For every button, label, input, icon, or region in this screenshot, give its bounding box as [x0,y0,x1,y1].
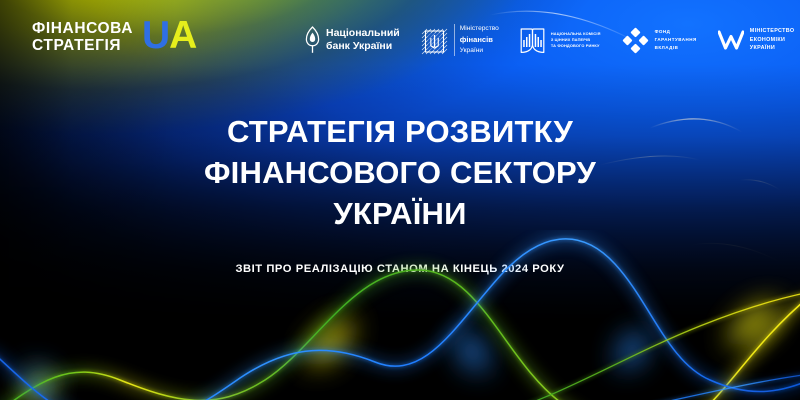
page-title-line-3: УКРАЇНИ [0,194,800,235]
header: ФІНАНСОВА СТРАТЕГІЯ U A Націона [0,0,800,78]
trident-emblem-icon [421,26,448,55]
partner-logo-deposit-guarantee-fund[interactable]: ФОНД ГАРАНТУВАННЯ ВКЛАДІВ [622,24,697,56]
wave-path-blue-tail [560,374,800,400]
dgf-diamond-icon [622,27,649,54]
partner-label: Національний банк України [326,27,400,53]
partner-logo-strip: Національний банк України [305,24,794,56]
partner-label: ФОНД ГАРАНТУВАННЯ ВКЛАДІВ [655,28,697,52]
brand-logo[interactable]: ФІНАНСОВА СТРАТЕГІЯ U A [32,21,196,54]
partner-label: НАЦІОНАЛЬНА КОМІСІЯ З ЦІННИХ ПАПЕРІВ ТА … [551,31,601,50]
page-title-line-2: ФІНАНСОВОГО СЕКТОРУ [0,153,800,194]
page-title-line-1: СТРАТЕГІЯ РОЗВИТКУ [0,112,800,153]
brand-ua-mark: U A [142,20,196,52]
brand-line-1: ФІНАНСОВА [32,21,133,38]
wave-path-blue [0,239,800,400]
brand-wordmark: ФІНАНСОВА СТРАТЕГІЯ [32,21,133,54]
mineconomy-checkmark-icon [718,29,744,51]
partner-label: Міністерство фінансів України [454,24,499,55]
partner-logo-nssmc[interactable]: НАЦІОНАЛЬНА КОМІСІЯ З ЦІННИХ ПАПЕРІВ ТА … [520,24,601,56]
partner-label-line-1: Національний [326,27,400,40]
partner-label-line-3: УКРАЇНИ [750,44,795,53]
partner-label-line-1: Міністерство [460,24,499,34]
decorative-wave-graphic [0,230,800,400]
partner-label-line-1: МІНІСТЕРСТВО [750,27,795,36]
nssmc-book-chart-icon [520,27,545,54]
partner-label-line-1: НАЦІОНАЛЬНА КОМІСІЯ [551,31,601,37]
brand-ua-letter-u: U [142,20,169,52]
partner-label-line-2: ЕКОНОМІКИ [750,36,795,45]
partner-label-line-3: України [460,46,499,56]
brand-ua-letter-a: A [169,20,196,52]
partner-label-line-2: фінансів [460,34,499,45]
partner-logo-national-bank-of-ukraine[interactable]: Національний банк України [305,24,400,56]
partner-label-line-2: ГАРАНТУВАННЯ [655,36,697,44]
wave-path-blue-glow [0,239,800,400]
partner-label-line-3: ВКЛАДІВ [655,44,697,52]
partner-label-line-1: ФОНД [655,28,697,36]
title-slide: ФІНАНСОВА СТРАТЕГІЯ U A Націона [0,0,800,400]
partner-label: МІНІСТЕРСТВО ЕКОНОМІКИ УКРАЇНИ [750,27,795,53]
page-title: СТРАТЕГІЯ РОЗВИТКУ ФІНАНСОВОГО СЕКТОРУ У… [0,112,800,235]
partner-logo-ministry-of-economy[interactable]: МІНІСТЕРСТВО ЕКОНОМІКИ УКРАЇНИ [718,24,795,56]
partner-label-line-2: банк України [326,40,400,53]
partner-label-line-3: ТА ФОНДОВОГО РИНКУ [551,43,601,49]
brand-line-2: СТРАТЕГІЯ [32,38,133,55]
partner-logo-ministry-of-finance[interactable]: Міністерство фінансів України [421,24,499,56]
nbu-mace-icon [305,26,320,54]
